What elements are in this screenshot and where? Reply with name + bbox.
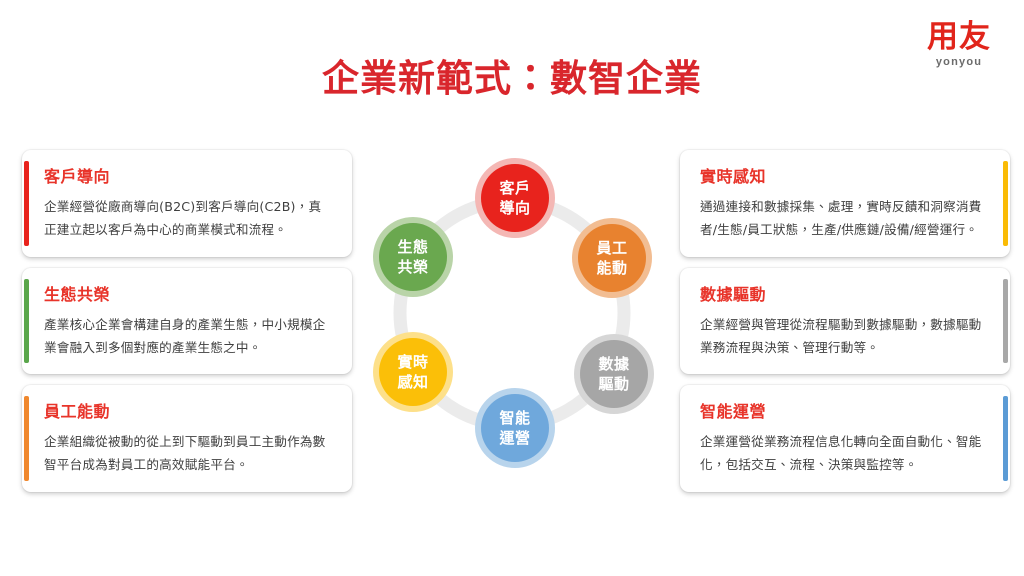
card-accent-bar (24, 396, 29, 481)
node-core (481, 394, 549, 462)
card-body: 企業經營與管理從流程驅動到數據驅動，數據驅動業務流程與決策、管理行動等。 (700, 313, 988, 360)
node-core (481, 164, 549, 232)
card-title: 數據驅動 (700, 281, 988, 305)
node-label-line2: 共榮 (397, 258, 428, 276)
node-core (580, 340, 648, 408)
card-body: 通過連接和數據採集、處理，實時反饋和洞察消費者/生態/員工狀態，生產/供應鏈/設… (700, 195, 988, 242)
cycle-node-realtime-sensing[interactable]: 實時感知 (373, 332, 453, 412)
node-core (379, 338, 447, 406)
card-data-driven[interactable]: 數據驅動 企業經營與管理從流程驅動到數據驅動，數據驅動業務流程與決策、管理行動等… (680, 268, 1010, 375)
card-accent-bar (24, 279, 29, 364)
card-accent-bar (1003, 279, 1008, 364)
cycle-diagram-svg: 客戶導向員工能動數據驅動智能運營實時感知生態共榮 (352, 150, 672, 470)
node-label-line2: 導向 (499, 199, 530, 217)
card-body: 產業核心企業會構建自身的產業生態，中小規模企業會融入到多個對應的產業生態之中。 (44, 313, 334, 360)
cycle-node-group: 客戶導向員工能動數據驅動智能運營實時感知生態共榮 (373, 158, 654, 468)
card-accent-bar (1003, 161, 1008, 246)
node-label-line1: 生態 (397, 238, 428, 256)
left-card-column: 客戶導向 企業經營從廠商導向(B2C)到客戶導向(C2B)，真正建立起以客戶為中… (22, 150, 352, 492)
card-title: 實時感知 (700, 163, 988, 187)
card-intelligent-ops[interactable]: 智能運營 企業運營從業務流程信息化轉向全面自動化、智能化，包括交互、流程、決策與… (680, 385, 1010, 492)
card-title: 生態共榮 (44, 281, 334, 305)
cycle-node-intelligent-ops[interactable]: 智能運營 (475, 388, 555, 468)
node-label-line1: 客戶 (498, 179, 530, 197)
card-customer-oriented[interactable]: 客戶導向 企業經營從廠商導向(B2C)到客戶導向(C2B)，真正建立起以客戶為中… (22, 150, 352, 257)
node-label-line1: 實時 (397, 353, 428, 371)
card-title: 智能運營 (700, 398, 988, 422)
card-title: 客戶導向 (44, 163, 334, 187)
card-body: 企業經營從廠商導向(B2C)到客戶導向(C2B)，真正建立起以客戶為中心的商業模… (44, 195, 334, 242)
node-label-line2: 驅動 (598, 375, 629, 393)
cycle-node-eco-prosperity[interactable]: 生態共榮 (373, 217, 453, 297)
card-employee-agency[interactable]: 員工能動 企業組織從被動的從上到下驅動到員工主動作為數智平台成為對員工的高效賦能… (22, 385, 352, 492)
node-label-line2: 運營 (498, 429, 530, 447)
card-accent-bar (24, 161, 29, 246)
cycle-node-data-driven[interactable]: 數據驅動 (574, 334, 654, 414)
cycle-diagram: 客戶導向員工能動數據驅動智能運營實時感知生態共榮 (352, 150, 672, 470)
node-label-line2: 能動 (596, 259, 627, 277)
card-body: 企業組織從被動的從上到下驅動到員工主動作為數智平台成為對員工的高效賦能平台。 (44, 430, 334, 477)
card-realtime-sensing[interactable]: 實時感知 通過連接和數據採集、處理，實時反饋和洞察消費者/生態/員工狀態，生產/… (680, 150, 1010, 257)
right-card-column: 實時感知 通過連接和數據採集、處理，實時反饋和洞察消費者/生態/員工狀態，生產/… (680, 150, 1010, 492)
cycle-node-customer-oriented[interactable]: 客戶導向 (475, 158, 555, 238)
node-label-line1: 員工 (595, 239, 627, 257)
node-label-line1: 智能 (499, 409, 530, 427)
node-label-line2: 感知 (397, 373, 428, 391)
node-core (578, 224, 646, 292)
card-body: 企業運營從業務流程信息化轉向全面自動化、智能化，包括交互、流程、決策與監控等。 (700, 430, 988, 477)
card-title: 員工能動 (44, 398, 334, 422)
node-core (379, 223, 447, 291)
cycle-node-employee-agency[interactable]: 員工能動 (572, 218, 652, 298)
card-eco-prosperity[interactable]: 生態共榮 產業核心企業會構建自身的產業生態，中小規模企業會融入到多個對應的產業生… (22, 268, 352, 375)
node-label-line1: 數據 (597, 355, 630, 373)
page-title: 企業新範式：數智企業 (0, 48, 1024, 102)
card-accent-bar (1003, 396, 1008, 481)
